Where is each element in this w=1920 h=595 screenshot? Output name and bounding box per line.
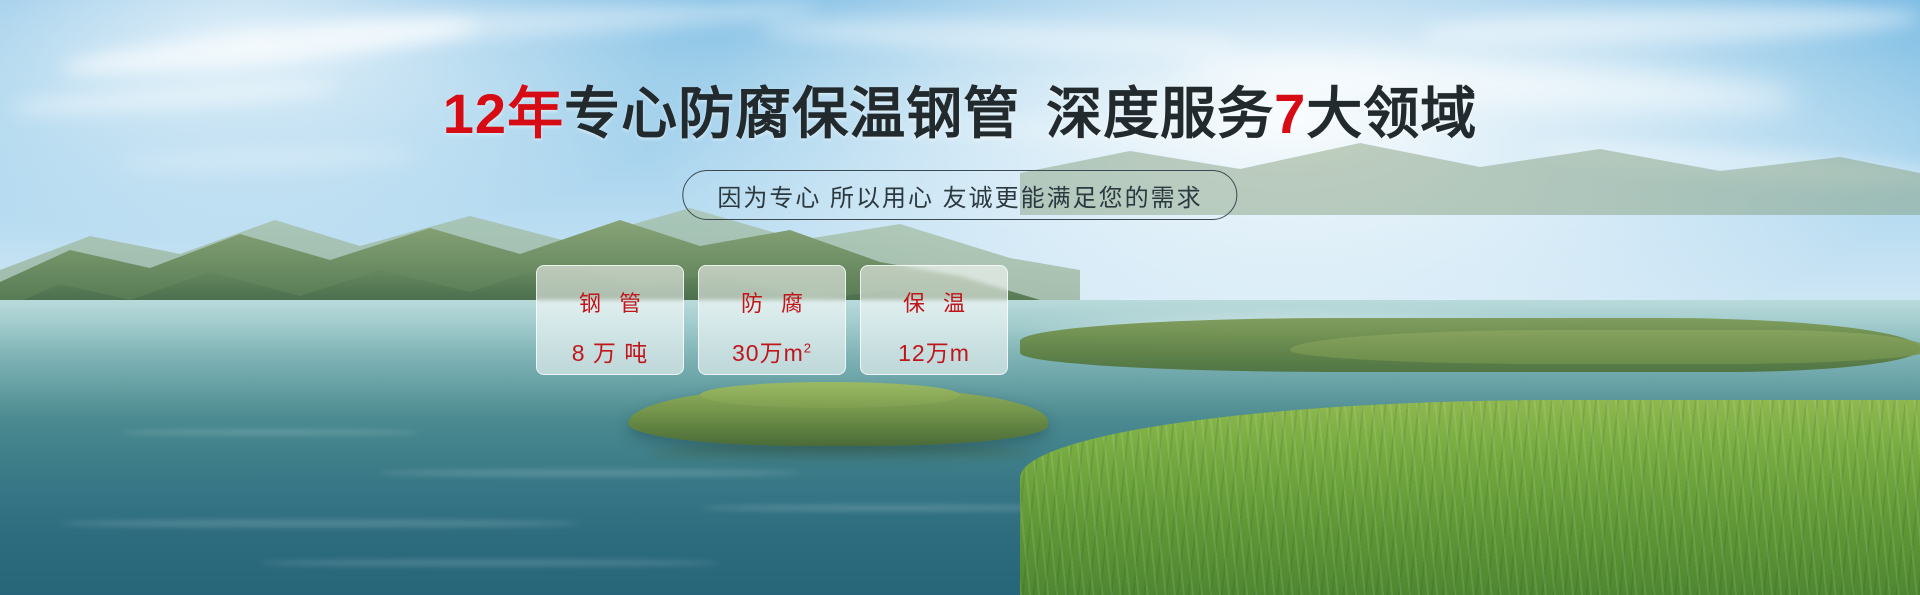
stat-card-insulation: 保 温 12万m xyxy=(860,265,1008,375)
hero-banner: 12年专心防腐保温钢管深度服务7大领域 因为专心 所以用心 友诚更能满足您的需求… xyxy=(0,0,1920,595)
stat-card-value-text: 8 万 吨 xyxy=(572,340,649,366)
stat-card-value-text: 30万m xyxy=(732,340,804,366)
stat-card-value: 30万m2 xyxy=(732,334,812,368)
stat-card-group: 钢 管 8 万 吨 防 腐 30万m2 保 温 12万m xyxy=(536,265,1008,375)
island-reflection xyxy=(650,443,1030,465)
stat-card-steel-pipe: 钢 管 8 万 吨 xyxy=(536,265,684,375)
water-ripple xyxy=(60,520,580,527)
subtitle-pill: 因为专心 所以用心 友诚更能满足您的需求 xyxy=(682,170,1237,220)
headline-main-text: 专心防腐保温钢管 xyxy=(564,82,1020,145)
water-ripple xyxy=(120,430,420,435)
headline-domains-text: 大领域 xyxy=(1306,82,1477,145)
stat-card-value-sup: 2 xyxy=(804,340,812,355)
subtitle-text: 因为专心 所以用心 友诚更能满足您的需求 xyxy=(717,178,1202,213)
stat-card-anticorrosion: 防 腐 30万m2 xyxy=(698,265,846,375)
headline-years-number: 12 xyxy=(443,82,507,145)
headline-domains-number: 7 xyxy=(1274,82,1306,145)
grass-texture xyxy=(1020,400,1920,595)
water-ripple xyxy=(260,560,720,566)
water-ripple xyxy=(380,470,800,476)
stat-card-value: 8 万 吨 xyxy=(572,334,649,368)
stat-card-title: 钢 管 xyxy=(573,286,647,318)
stat-card-title: 防 腐 xyxy=(735,286,809,318)
stat-card-title: 保 温 xyxy=(897,286,971,318)
marsh-bank xyxy=(1290,330,1920,364)
page-title: 12年专心防腐保温钢管深度服务7大领域 xyxy=(0,86,1920,142)
headline-service-text: 深度服务 xyxy=(1046,82,1274,145)
headline-years-unit: 年 xyxy=(507,82,564,145)
stat-card-value: 12万m xyxy=(898,334,970,368)
stat-card-value-text: 12万m xyxy=(898,340,970,366)
grass-island-crest xyxy=(700,382,960,408)
